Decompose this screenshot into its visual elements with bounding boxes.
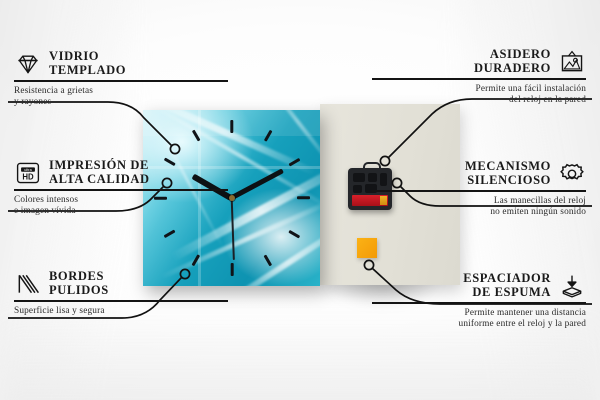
title-underline: [14, 189, 228, 191]
polished-edges-icon: [14, 271, 42, 297]
title-underline: [372, 190, 586, 192]
feature-title: ASIDERO DURADERO: [474, 48, 551, 75]
feature-desc-line2: del reloj en la pared: [372, 95, 586, 106]
feature-desc-line1: Colores intensos: [14, 195, 228, 206]
feature-header: VIDRIO TEMPLADO: [14, 50, 228, 77]
title-underline: [372, 302, 586, 304]
feature-title: MECANISMO SILENCIOSO: [465, 160, 551, 187]
feature-vidrio-templado[interactable]: VIDRIO TEMPLADO Resistencia a grietas y …: [14, 50, 228, 108]
feature-title: BORDES PULIDOS: [49, 270, 109, 297]
foam-spacer-piece: [357, 238, 377, 258]
feature-desc-line1: Las manecillas del reloj: [372, 196, 586, 207]
feature-header: BORDES PULIDOS: [14, 270, 228, 297]
press-down-spacer-icon: [558, 273, 586, 299]
feature-mecanismo-silencioso[interactable]: MECANISMO SILENCIOSO Las manecillas del …: [372, 160, 586, 218]
feature-header: MECANISMO SILENCIOSO: [372, 160, 586, 187]
diamond-icon: [14, 51, 42, 77]
feature-desc-line1: Permite mantener una distancia: [372, 308, 586, 319]
feature-header: ESPACIADOR DE ESPUMA: [372, 272, 586, 299]
title-underline: [372, 78, 586, 80]
ultra-hd-icon: ultra HD: [14, 160, 42, 186]
feature-desc-line2: uniforme entre el reloj y la pared: [372, 319, 586, 330]
clock-center-cap: [229, 195, 235, 201]
gear-icon: [558, 161, 586, 187]
feature-title: IMPRESIÓN DE ALTA CALIDAD: [49, 159, 150, 186]
feature-bordes-pulidos[interactable]: BORDES PULIDOS Superficie lisa y segura: [14, 270, 228, 317]
feature-desc-line1: Resistencia a grietas: [14, 86, 228, 97]
svg-text:ultra: ultra: [24, 167, 32, 171]
infographic-canvas: VIDRIO TEMPLADO Resistencia a grietas y …: [0, 0, 600, 400]
svg-text:HD: HD: [22, 172, 34, 181]
feature-title: ESPACIADOR DE ESPUMA: [463, 272, 551, 299]
feature-impresion-alta-calidad[interactable]: ultra HD IMPRESIÓN DE ALTA CALIDAD Color…: [14, 159, 228, 217]
feature-desc-line2: y rayones: [14, 97, 228, 108]
feature-desc-line1: Permite una fácil instalación: [372, 84, 586, 95]
feature-header: ultra HD IMPRESIÓN DE ALTA CALIDAD: [14, 159, 228, 186]
feature-asidero-duradero[interactable]: ASIDERO DURADERO Permite una fácil insta…: [372, 48, 586, 106]
title-underline: [14, 300, 228, 302]
title-underline: [14, 80, 228, 82]
framed-picture-icon: [558, 49, 586, 75]
feature-desc-line2: e imagen vívida: [14, 206, 228, 217]
feature-espaciador-de-espuma[interactable]: ESPACIADOR DE ESPUMA Permite mantener un…: [372, 272, 586, 330]
feature-desc-line2: no emiten ningún sonido: [372, 207, 586, 218]
feature-header: ASIDERO DURADERO: [372, 48, 586, 75]
feature-title: VIDRIO TEMPLADO: [49, 50, 126, 77]
feature-desc-line1: Superficie lisa y segura: [14, 306, 228, 317]
